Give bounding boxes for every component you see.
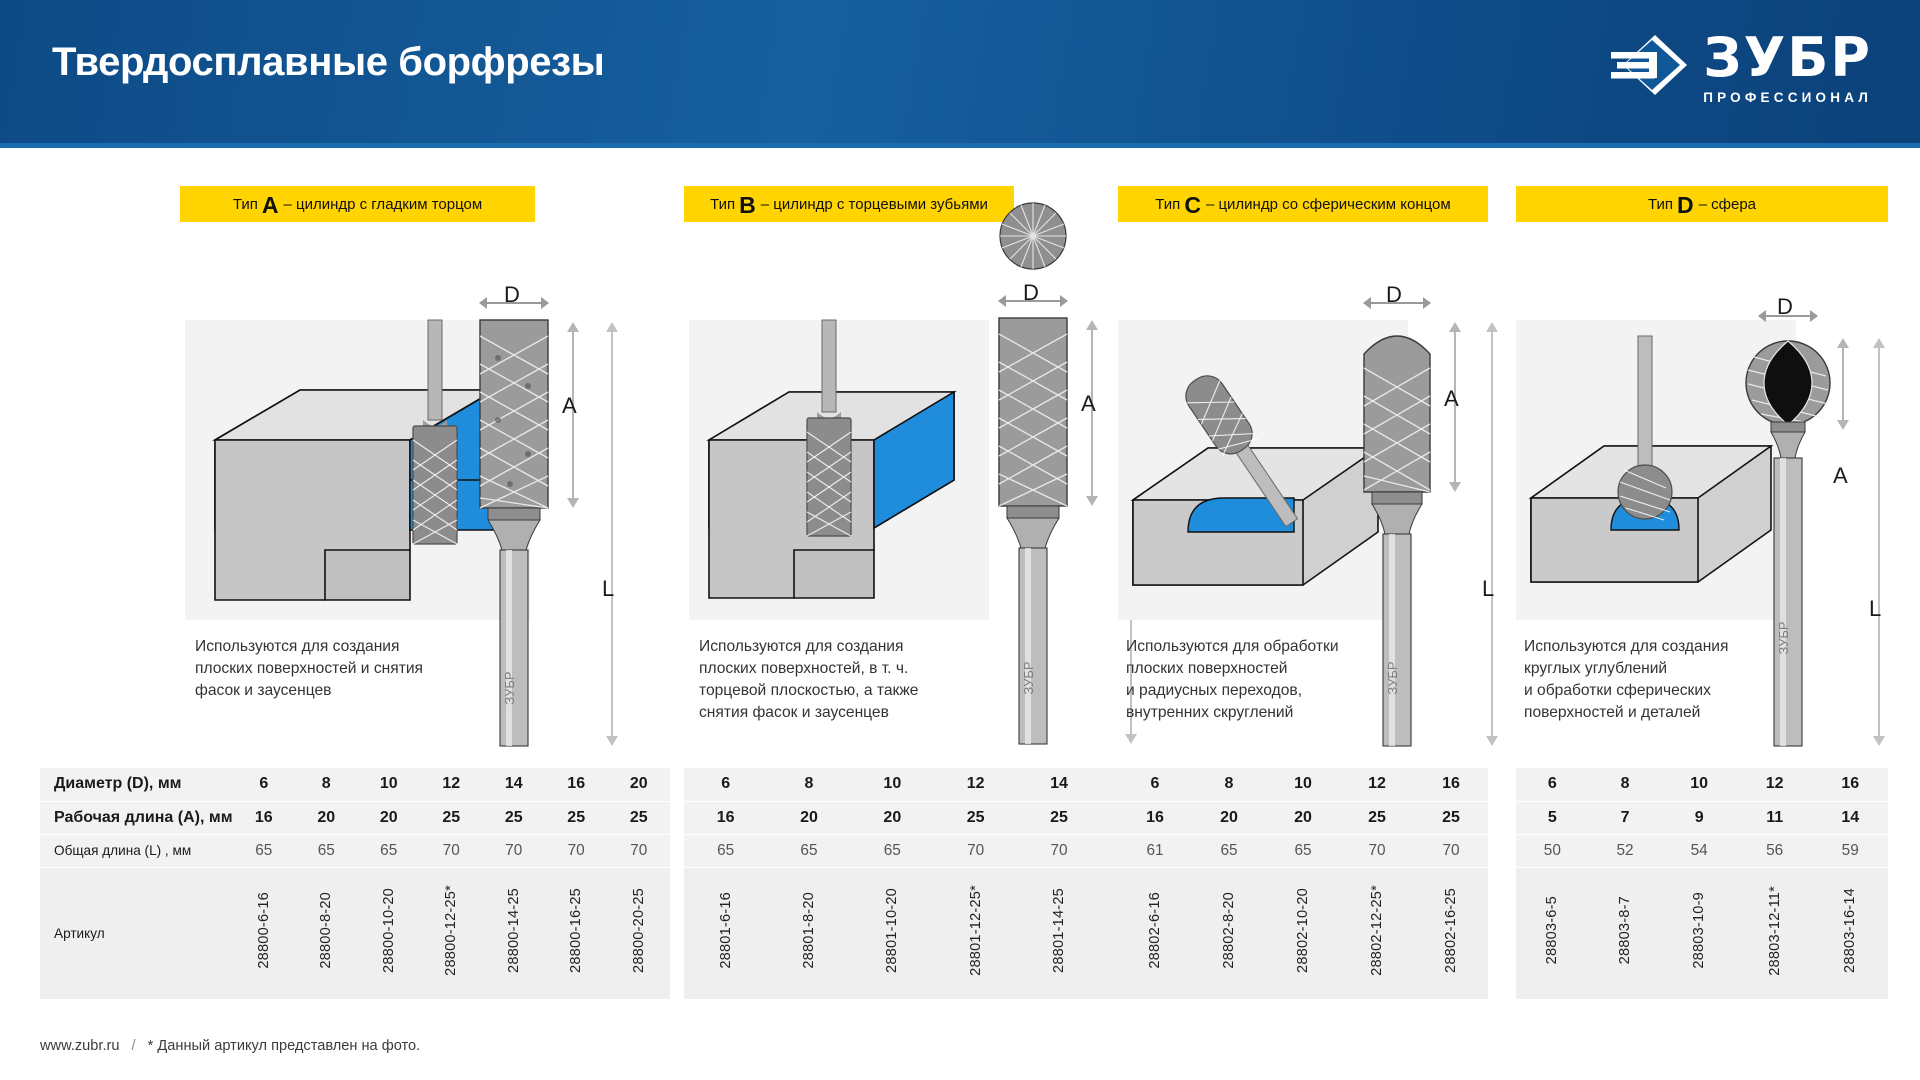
type-suffix: – сфера	[1699, 196, 1756, 213]
row-label: Артикул	[40, 867, 233, 999]
article-number: 28803-16-14	[1842, 888, 1858, 973]
article-number: 28802-6-16	[1147, 892, 1163, 969]
type-banner-c: Тип C – цилиндр со сферическим концом	[1118, 186, 1488, 222]
value-cell: 10	[358, 768, 420, 801]
value-cell: 56	[1737, 834, 1813, 867]
value-cell: 8	[1192, 768, 1266, 801]
article-cell: 28803-16-14	[1812, 867, 1888, 999]
article-number: 28803-12-11*	[1767, 886, 1783, 976]
logo-wordmark: ЗУБР	[1703, 32, 1872, 83]
value-cell: 14	[482, 768, 544, 801]
article-cell: 28802-10-20	[1266, 867, 1340, 999]
article-cell: 28802-12-25*	[1340, 867, 1414, 999]
page-header: Твердосплавные борфрезы ЗУБР ПРОФЕССИОНА…	[0, 0, 1920, 148]
type-letter: B	[739, 194, 756, 217]
value-cell: 65	[1192, 834, 1266, 867]
value-cell: 50	[1516, 834, 1589, 867]
svg-text:ЗУБР: ЗУБР	[1021, 661, 1036, 694]
spec-table-a-body: Диаметр (D), мм681012141620Рабочая длина…	[40, 768, 670, 999]
table-row: 1620202525	[1118, 801, 1488, 834]
table-row: 5052545659	[1516, 834, 1888, 867]
value-cell: 20	[358, 801, 420, 834]
product-column-d: Тип D – сфера Используются для создания …	[1516, 148, 1888, 1028]
value-cell: 70	[1340, 834, 1414, 867]
type-suffix: – цилиндр со сферическим концом	[1206, 196, 1451, 213]
article-number: 28802-8-20	[1221, 892, 1237, 969]
article-cell: 28800-8-20	[295, 867, 357, 999]
spec-table-d-body: 681012165791114505254565928803-6-528803-…	[1516, 768, 1888, 999]
article-number: 28800-20-25	[631, 888, 647, 973]
article-cell: 28800-6-16	[233, 867, 295, 999]
value-cell: 6	[684, 768, 767, 801]
product-photo-a: ЗУБР D A L	[440, 258, 670, 758]
article-cell: 28802-6-16	[1118, 867, 1192, 999]
article-cell: 28800-14-25	[482, 867, 544, 999]
article-cell: 28801-8-20	[767, 867, 850, 999]
value-cell: 16	[1812, 768, 1888, 801]
value-cell: 12	[420, 768, 482, 801]
value-cell: 25	[420, 801, 482, 834]
brand-logo: ЗУБР ПРОФЕССИОНАЛ	[1609, 32, 1872, 118]
table-row: 6165657070	[1118, 834, 1488, 867]
article-number: 28801-8-20	[801, 892, 817, 969]
value-cell: 10	[1266, 768, 1340, 801]
dim-label-d-a: D	[504, 282, 520, 308]
product-column-a: Тип A – цилиндр с гладким торцом Использ…	[40, 148, 670, 1028]
dim-label-d-d: D	[1777, 294, 1793, 320]
type-letter: C	[1184, 194, 1201, 217]
article-number: 28802-10-20	[1295, 888, 1311, 973]
article-cell: 28802-8-20	[1192, 867, 1266, 999]
spec-table-a: Диаметр (D), мм681012141620Рабочая длина…	[40, 768, 670, 1000]
value-cell: 54	[1661, 834, 1737, 867]
value-cell: 5	[1516, 801, 1589, 834]
article-number: 28802-12-25*	[1369, 885, 1385, 976]
value-cell: 25	[934, 801, 1017, 834]
page-title: Твердосплавные борфрезы	[52, 40, 604, 85]
value-cell: 10	[851, 768, 934, 801]
table-row: 28803-6-528803-8-728803-10-928803-12-11*…	[1516, 867, 1888, 999]
article-number: 28802-16-25	[1443, 888, 1459, 973]
article-number: 28801-6-16	[718, 892, 734, 969]
table-row: Общая длина (L) , мм65656570707070	[40, 834, 670, 867]
value-cell: 8	[767, 768, 850, 801]
table-row: Рабочая длина (A), мм16202025252525	[40, 801, 670, 834]
table-row: 6810121416	[684, 768, 1184, 801]
article-cell: 28803-10-9	[1661, 867, 1737, 999]
table-row: 28802-6-1628802-8-2028802-10-2028802-12-…	[1118, 867, 1488, 999]
row-label: Общая длина (L) , мм	[40, 834, 233, 867]
product-column-c: Тип C – цилиндр со сферическим концом Ис…	[1126, 148, 1516, 1028]
value-cell: 6	[1516, 768, 1589, 801]
value-cell: 65	[767, 834, 850, 867]
value-cell: 12	[1737, 768, 1813, 801]
article-cell: 28801-14-25	[1017, 867, 1100, 999]
value-cell: 16	[1118, 801, 1192, 834]
value-cell: 16	[233, 801, 295, 834]
article-cell: 28803-6-5	[1516, 867, 1589, 999]
table-row: 68101216	[1516, 768, 1888, 801]
article-number: 28800-16-25	[568, 888, 584, 973]
type-banner-d: Тип D – сфера	[1516, 186, 1888, 222]
article-cell: 28803-12-11*	[1737, 867, 1813, 999]
footer-note: * Данный артикул представлен на фото.	[148, 1038, 421, 1054]
dim-label-l-a: L	[602, 576, 614, 602]
value-cell: 25	[482, 801, 544, 834]
table-row: Артикул28800-6-1628800-8-2028800-10-2028…	[40, 867, 670, 999]
row-label: Рабочая длина (A), мм	[40, 801, 233, 834]
value-cell: 25	[1017, 801, 1100, 834]
article-number: 28800-8-20	[318, 892, 334, 969]
value-cell: 10	[1661, 768, 1737, 801]
value-cell: 70	[420, 834, 482, 867]
value-cell: 14	[1812, 801, 1888, 834]
table-row: 656565707070	[684, 834, 1184, 867]
value-cell: 70	[545, 834, 607, 867]
row-label: Диаметр (D), мм	[40, 768, 233, 801]
article-number: 28803-6-5	[1544, 896, 1560, 964]
svg-text:ЗУБР: ЗУБР	[502, 671, 517, 704]
value-cell: 12	[934, 768, 1017, 801]
article-number: 28801-14-25	[1051, 888, 1067, 973]
value-cell: 61	[1118, 834, 1192, 867]
type-prefix: Тип	[710, 196, 735, 213]
dim-label-d-b: D	[1023, 280, 1039, 306]
value-cell: 25	[545, 801, 607, 834]
type-letter: A	[262, 194, 279, 217]
value-cell: 65	[1266, 834, 1340, 867]
application-illustration-b	[689, 320, 989, 620]
value-cell: 20	[851, 801, 934, 834]
value-cell: 9	[1661, 801, 1737, 834]
table-row: Диаметр (D), мм681012141620	[40, 768, 670, 801]
value-cell: 52	[1589, 834, 1662, 867]
value-cell: 20	[1192, 801, 1266, 834]
article-cell: 28800-10-20	[358, 867, 420, 999]
article-number: 28800-12-25*	[443, 885, 459, 976]
value-cell: 59	[1812, 834, 1888, 867]
value-cell: 20	[1266, 801, 1340, 834]
value-cell: 16	[545, 768, 607, 801]
article-number: 28800-6-16	[256, 892, 272, 969]
value-cell: 65	[233, 834, 295, 867]
type-letter: D	[1677, 194, 1694, 217]
page-footer: www.zubr.ru / * Данный артикул представл…	[40, 1038, 420, 1054]
type-banner-a: Тип A – цилиндр с гладким торцом	[180, 186, 535, 222]
article-number: 28803-8-7	[1617, 896, 1633, 964]
value-cell: 65	[295, 834, 357, 867]
article-cell: 28801-10-20	[851, 867, 934, 999]
value-cell: 6	[1118, 768, 1192, 801]
dim-label-d-c: D	[1386, 282, 1402, 308]
value-cell: 16	[1414, 768, 1488, 801]
table-row: 28801-6-1628801-8-2028801-10-2028801-12-…	[684, 867, 1184, 999]
type-prefix: Тип	[1648, 196, 1673, 213]
article-cell: 28800-20-25	[607, 867, 670, 999]
article-number: 28801-10-20	[884, 888, 900, 973]
product-photo-c: ЗУБР D A L	[1326, 258, 1546, 758]
value-cell: 11	[1737, 801, 1813, 834]
value-cell: 25	[607, 801, 670, 834]
article-cell: 28803-8-7	[1589, 867, 1662, 999]
value-cell: 65	[684, 834, 767, 867]
dim-label-a-b: A	[1081, 391, 1096, 417]
article-cell: 28800-16-25	[545, 867, 607, 999]
svg-text:ЗУБР: ЗУБР	[1385, 661, 1400, 694]
value-cell: 8	[295, 768, 357, 801]
article-cell: 28802-16-25	[1414, 867, 1488, 999]
article-cell: 28801-12-25*	[934, 867, 1017, 999]
value-cell: 14	[1017, 768, 1100, 801]
type-prefix: Тип	[233, 196, 258, 213]
product-photo-d: ЗУБР D A L	[1721, 278, 1920, 758]
article-cell: 28801-6-16	[684, 867, 767, 999]
article-number: 28801-12-25*	[968, 885, 984, 976]
value-cell: 70	[1414, 834, 1488, 867]
value-cell: 65	[851, 834, 934, 867]
value-cell: 70	[482, 834, 544, 867]
value-cell: 70	[934, 834, 1017, 867]
spec-table-c-body: 681012161620202525616565707028802-6-1628…	[1118, 768, 1488, 999]
spec-table-b-body: 681012141616202025252565656570707028801-…	[684, 768, 1184, 999]
spec-table-d: 681012165791114505254565928803-6-528803-…	[1516, 768, 1888, 1000]
value-cell: 6	[233, 768, 295, 801]
value-cell: 16	[684, 801, 767, 834]
value-cell: 7	[1589, 801, 1662, 834]
zubr-diamond-icon	[1609, 34, 1689, 96]
dim-label-l-c: L	[1482, 576, 1494, 602]
value-cell: 70	[1017, 834, 1100, 867]
footer-separator: /	[132, 1038, 136, 1054]
table-row: 68101216	[1118, 768, 1488, 801]
value-cell: 20	[767, 801, 850, 834]
dim-label-a-d: A	[1833, 463, 1848, 489]
dim-label-a-a: A	[562, 393, 577, 419]
end-tooth-detail-b	[1000, 203, 1066, 269]
type-prefix: Тип	[1155, 196, 1180, 213]
type-suffix: – цилиндр с торцевыми зубьями	[761, 196, 988, 213]
article-number: 28803-10-9	[1691, 892, 1707, 969]
spec-table-b: 681012141616202025252565656570707028801-…	[684, 768, 1184, 1000]
value-cell: 8	[1589, 768, 1662, 801]
footer-site-link[interactable]: www.zubr.ru	[40, 1038, 119, 1054]
value-cell: 12	[1340, 768, 1414, 801]
dim-label-l-d: L	[1869, 596, 1881, 622]
table-row: 162020252525	[684, 801, 1184, 834]
article-number: 28800-14-25	[506, 888, 522, 973]
logo-tagline: ПРОФЕССИОНАЛ	[1703, 90, 1872, 105]
table-row: 5791114	[1516, 801, 1888, 834]
value-cell: 70	[607, 834, 670, 867]
value-cell: 25	[1414, 801, 1488, 834]
value-cell: 20	[295, 801, 357, 834]
svg-text:ЗУБР: ЗУБР	[1776, 621, 1791, 654]
dim-label-a-c: A	[1444, 386, 1459, 412]
article-number: 28800-10-20	[381, 888, 397, 973]
value-cell: 65	[358, 834, 420, 867]
spec-table-c: 681012161620202525616565707028802-6-1628…	[1118, 768, 1488, 1000]
type-suffix: – цилиндр с гладким торцом	[283, 196, 482, 213]
value-cell: 25	[1340, 801, 1414, 834]
article-cell: 28800-12-25*	[420, 867, 482, 999]
value-cell: 20	[607, 768, 670, 801]
